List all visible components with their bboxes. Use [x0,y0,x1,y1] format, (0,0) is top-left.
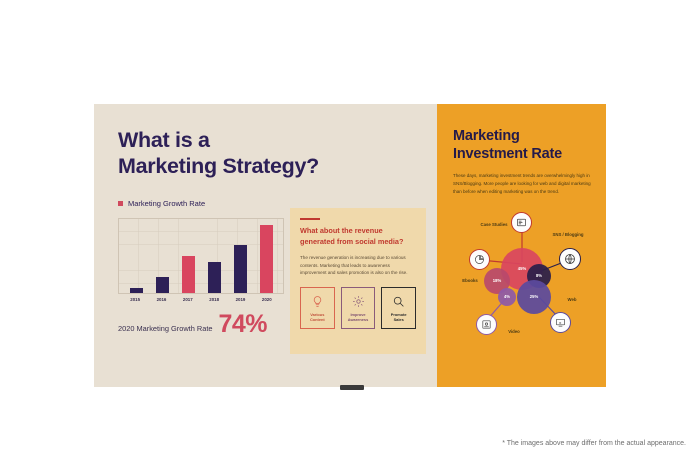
node-case-studies[interactable] [511,212,532,233]
bar-chart-plot-area [118,218,284,294]
revenue-card-body: The revenue generation is increasing due… [300,254,416,276]
benefit-icon-row: Various Content Improve Awareness [300,287,416,329]
bar-2018 [208,262,221,294]
magnifier-icon [392,295,405,308]
x-tick-2018: 2018 [208,297,221,302]
revenue-card-title-line1: What about the revenue [300,226,416,237]
legend-swatch-icon [118,201,123,206]
revenue-card-title-line2: generated from social media? [300,237,416,248]
bar-2020 [260,225,273,293]
monitor-icon [555,317,566,328]
x-tick-2019: 2019 [234,297,247,302]
benefit-box-promote-sales[interactable]: Promote Sales [381,287,416,329]
revenue-card: What about the revenue generated from so… [290,208,426,354]
legend-label: Marketing Growth Rate [128,199,205,208]
benefit-caption: Various Content [310,312,325,323]
page-title: What is a Marketing Strategy? [118,127,437,179]
growth-stat: 2020 Marketing Growth Rate 74% [118,314,296,335]
bubble-chart: 45% 18% 8% 25% 4% [447,202,597,347]
slide-frame: What is a Marketing Strategy? Marketing … [94,104,606,387]
card-rule-divider [300,218,320,220]
bubble-video: 4% [498,288,516,306]
right-panel: Marketing Investment Rate These days, ma… [437,104,606,387]
node-label-case-studies: Case Studies [477,222,511,228]
bar-series [119,219,283,293]
right-panel-title-line1: Marketing [453,127,592,145]
lightbulb-icon [311,295,324,308]
revenue-card-title: What about the revenue generated from so… [300,226,416,247]
chart-pie-icon [474,254,485,265]
bar-2017 [182,256,195,293]
x-tick-2016: 2016 [155,297,168,302]
bar-2015 [130,288,143,294]
page-title-line2: Marketing Strategy? [118,153,437,179]
benefit-caption: Promote Sales [391,312,407,323]
screenshot-canvas: What is a Marketing Strategy? Marketing … [0,0,700,465]
node-label-sns-blogging: SNS / Blogging [551,232,585,238]
node-ebooks[interactable] [469,249,490,270]
gear-icon [352,295,365,308]
bar-chart: 201520162017201820192020 [118,218,284,302]
node-label-web: Web [557,297,587,303]
book-icon [481,319,492,330]
bar-2019 [234,245,247,294]
bubble-value: 8% [536,273,542,278]
benefit-caption-line2: Sales [391,317,407,322]
footnote: * The images above may differ from the a… [502,440,686,447]
bubble-web: 25% [517,280,551,314]
x-tick-2017: 2017 [181,297,194,302]
globe-icon [564,253,576,265]
benefit-caption-line2: Awareness [348,317,368,322]
node-label-video: Video [499,329,529,335]
right-panel-body: These days, marketing investment trends … [453,172,592,196]
page-title-line1: What is a [118,127,437,153]
bubble-value: 4% [504,294,510,299]
x-tick-2020: 2020 [260,297,273,302]
right-panel-title-line2: Investment Rate [453,145,592,163]
bar-chart-x-axis: 201520162017201820192020 [118,294,284,302]
bubble-value: 45% [518,266,526,271]
node-video[interactable] [476,314,497,335]
benefit-caption-line2: Content [310,317,325,322]
right-panel-title: Marketing Investment Rate [453,127,592,163]
bubble-value: 25% [530,294,538,299]
device-notch [340,385,364,390]
x-tick-2015: 2015 [129,297,142,302]
benefit-box-various-content[interactable]: Various Content [300,287,335,329]
node-label-ebooks: Ebooks [453,278,487,284]
growth-stat-value: 74% [218,314,267,335]
blog-icon [516,217,527,228]
growth-stat-label: 2020 Marketing Growth Rate [118,324,212,336]
bubble-value: 18% [493,278,501,283]
bar-2016 [156,277,169,293]
node-sns-blogging[interactable] [559,248,581,270]
benefit-caption: Improve Awareness [348,312,368,323]
benefit-box-improve-awareness[interactable]: Improve Awareness [341,287,376,329]
node-web[interactable] [550,312,571,333]
left-panel: What is a Marketing Strategy? Marketing … [94,104,437,387]
